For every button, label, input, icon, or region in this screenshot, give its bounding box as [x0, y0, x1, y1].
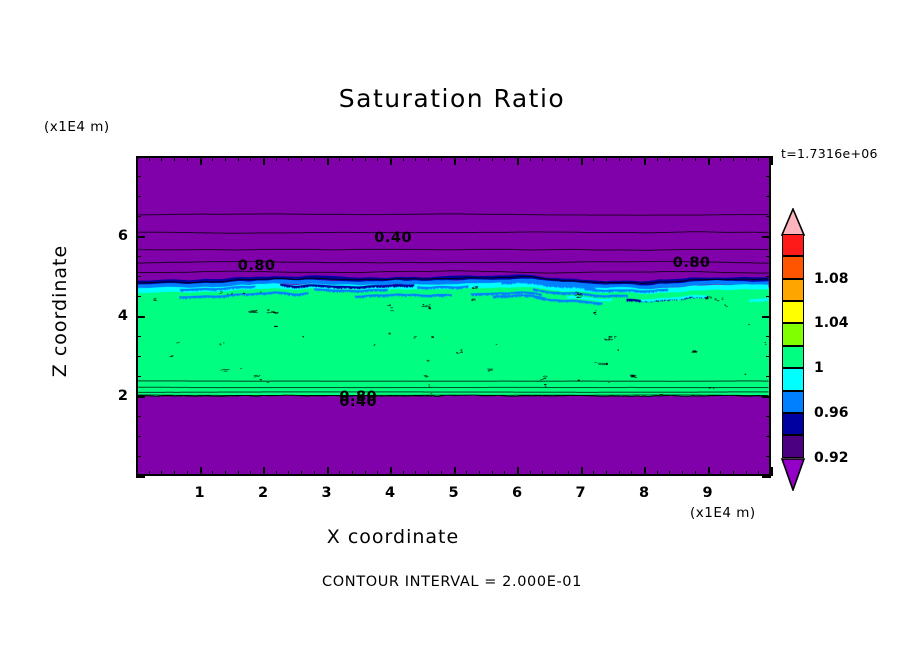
colorbar-band-5[interactable]	[782, 323, 804, 345]
x-tick-label-5: 5	[448, 485, 458, 501]
colorbar-band-8[interactable]	[782, 391, 804, 413]
page-title: Saturation Ratio	[0, 84, 904, 113]
x-tick-label-7: 7	[575, 485, 585, 501]
axis-tick	[771, 467, 773, 476]
colorbar-band-10[interactable]	[782, 435, 804, 457]
contour-field-canvas	[138, 158, 769, 474]
x-tick-label-4: 4	[385, 485, 395, 501]
y-tick-label-6: 6	[102, 228, 128, 244]
x-axis-title: X coordinate	[0, 526, 786, 548]
x-tick-label-1: 1	[194, 485, 204, 501]
colorbar-band-2[interactable]	[782, 256, 804, 278]
colorbar-label-0_96: 0.96	[814, 405, 849, 421]
x-tick-label-8: 8	[639, 485, 649, 501]
time-annotation: t=1.7316e+06	[781, 146, 878, 161]
axis-tick	[771, 156, 773, 165]
x-tick-label-9: 9	[702, 485, 712, 501]
contour-plot-area[interactable]	[136, 156, 771, 476]
colorbar-band-1[interactable]	[782, 234, 804, 256]
colorbar-label-1_04: 1.04	[814, 315, 849, 331]
colorbar-label-1: 1	[814, 360, 824, 376]
colorbar-band-6[interactable]	[782, 346, 804, 368]
y-tick-label-4: 4	[102, 308, 128, 324]
colorbar-label-1_08: 1.08	[814, 271, 849, 287]
axis-tick	[136, 476, 145, 478]
colorbar-bottom-arrow	[776, 457, 810, 491]
colorbar-band-3[interactable]	[782, 279, 804, 301]
colorbar-label-0_92: 0.92	[814, 450, 849, 466]
axis-tick	[762, 476, 771, 478]
x-tick-label-6: 6	[512, 485, 522, 501]
colorbar-band-4[interactable]	[782, 301, 804, 323]
colorbar-top-arrow	[776, 208, 810, 236]
y-axis-unit-label: (x1E4 m)	[44, 119, 110, 135]
y-tick-label-2: 2	[102, 388, 128, 404]
colorbar-band-9[interactable]	[782, 413, 804, 435]
x-tick-label-3: 3	[321, 485, 331, 501]
x-axis-unit-label: (x1E4 m)	[690, 505, 756, 521]
y-axis-title: Z coordinate	[49, 211, 71, 411]
colorbar[interactable]: 1.081.0410.960.92	[776, 208, 810, 506]
x-tick-label-2: 2	[258, 485, 268, 501]
contour-interval-caption: CONTOUR INTERVAL = 2.000E-01	[0, 574, 904, 590]
colorbar-band-7[interactable]	[782, 368, 804, 390]
